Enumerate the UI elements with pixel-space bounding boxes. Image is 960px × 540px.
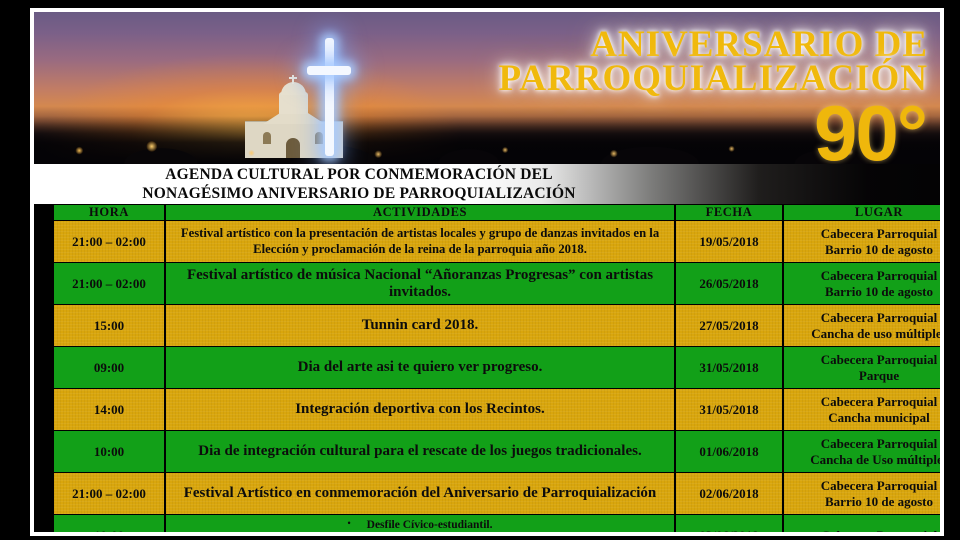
poster-inner: ANIVERSARIO DE PARROQUIALIZACIÓN 90° AGE…: [34, 12, 940, 532]
lugar-line2: Cancha municipal: [787, 410, 940, 425]
cell-hora: 21:00 – 02:00: [54, 221, 164, 262]
cell-actividad: Tunnin card 2018.: [166, 305, 674, 346]
hero-banner: ANIVERSARIO DE PARROQUIALIZACIÓN 90°: [34, 12, 940, 164]
agenda-table-body: 21:00 – 02:00 Festival artístico con la …: [54, 221, 940, 532]
cell-lugar: Cabecera Parroquial Barrio 10 de agosto: [784, 221, 940, 262]
lugar-line2: Barrio 10 de agosto: [787, 242, 940, 257]
steeple-cross-icon: [292, 75, 294, 84]
list-item: Desfile Cívico-estudiantil.: [169, 515, 671, 532]
cell-actividad: Dia de integración cultural para el resc…: [166, 431, 674, 472]
lugar-line1: Cabecera Parroquial: [787, 478, 940, 493]
lugar-line1: Cabecera Parroquial: [787, 352, 940, 367]
cell-hora: 15:00: [54, 305, 164, 346]
cell-actividad: Festival Artístico en conmemoración del …: [166, 473, 674, 514]
column-header-hora: HORA: [54, 205, 164, 220]
lugar-line2: Cancha de uso múltiples: [787, 326, 940, 341]
cell-hora: 14:00: [54, 389, 164, 430]
agenda-table-head: HORA ACTIVIDADES FECHA LUGAR: [54, 205, 940, 220]
cell-lugar: Cabecera Parroquial: [784, 515, 940, 532]
cell-hora: 10:00: [54, 515, 164, 532]
cell-fecha: 01/06/2018: [676, 431, 782, 472]
cell-fecha: 19/05/2018: [676, 221, 782, 262]
cell-hora: 21:00 – 02:00: [54, 473, 164, 514]
lugar-line1: Cabecera Parroquial: [787, 268, 940, 283]
column-header-lugar: LUGAR: [784, 205, 940, 220]
street-lights: [34, 132, 940, 162]
lugar-line2: Barrio 10 de agosto: [787, 494, 940, 509]
table-row: 14:00 Integración deportiva con los Reci…: [54, 389, 940, 430]
church-tower: [279, 92, 308, 114]
table-row: 21:00 – 02:00 Festival artístico con la …: [54, 221, 940, 262]
table-row: 10:00 Dia de integración cultural para e…: [54, 431, 940, 472]
cell-actividad: Desfile Cívico-estudiantil. Sesión Conme…: [166, 515, 674, 532]
table-row: 21:00 – 02:00 Festival artístico de músi…: [54, 263, 940, 304]
poster-root: ANIVERSARIO DE PARROQUIALIZACIÓN 90° AGE…: [0, 0, 960, 540]
cell-fecha: 02/06/2018: [676, 473, 782, 514]
table-header-row: HORA ACTIVIDADES FECHA LUGAR: [54, 205, 940, 220]
cell-hora: 10:00: [54, 431, 164, 472]
cell-lugar: Cabecera Parroquial Cancha municipal: [784, 389, 940, 430]
subtitle-band: AGENDA CULTURAL POR CONMEMORACIÓN DEL NO…: [34, 164, 940, 204]
subtitle-line2: NONAGÉSIMO ANIVERSARIO DE PARROQUIALIZAC…: [94, 185, 624, 204]
subtitle-line1: AGENDA CULTURAL POR CONMEMORACIÓN DEL: [94, 166, 624, 185]
table-row: 15:00 Tunnin card 2018. 27/05/2018 Cabec…: [54, 305, 940, 346]
cell-lugar: Cabecera Parroquial Barrio 10 de agosto: [784, 263, 940, 304]
cell-lugar: Cabecera Parroquial Parque: [784, 347, 940, 388]
cross-horizontal-bar: [307, 66, 351, 75]
agenda-table: HORA ACTIVIDADES FECHA LUGAR 21:00 – 02:…: [52, 204, 940, 532]
cell-actividad: Dia del arte asi te quiero ver progreso.: [166, 347, 674, 388]
lugar-line1: Cabecera Parroquial: [787, 226, 940, 241]
cell-fecha: 31/05/2018: [676, 389, 782, 430]
cell-hora: 21:00 – 02:00: [54, 263, 164, 304]
activity-bullet-list: Desfile Cívico-estudiantil. Sesión Conme…: [169, 515, 671, 532]
table-row: 09:00 Dia del arte asi te quiero ver pro…: [54, 347, 940, 388]
lugar-line1: Cabecera Parroquial: [787, 528, 940, 532]
column-header-fecha: FECHA: [676, 205, 782, 220]
anniversary-number: 90°: [814, 102, 926, 164]
hero-title: ANIVERSARIO DE PARROQUIALIZACIÓN: [498, 28, 928, 97]
lugar-line2: Barrio 10 de agosto: [787, 284, 940, 299]
table-row: 21:00 – 02:00 Festival Artístico en conm…: [54, 473, 940, 514]
cell-hora: 09:00: [54, 347, 164, 388]
cell-actividad: Festival artístico con la presentación d…: [166, 221, 674, 262]
column-header-actividades: ACTIVIDADES: [166, 205, 674, 220]
lugar-line2: Parque: [787, 368, 940, 383]
lugar-line1: Cabecera Parroquial: [787, 394, 940, 409]
lugar-line1: Cabecera Parroquial: [787, 436, 940, 451]
cell-fecha: 27/05/2018: [676, 305, 782, 346]
cell-actividad: Festival artístico de música Nacional “A…: [166, 263, 674, 304]
subtitle-text: AGENDA CULTURAL POR CONMEMORACIÓN DEL NO…: [94, 166, 624, 204]
cell-lugar: Cabecera Parroquial Barrio 10 de agosto: [784, 473, 940, 514]
cell-fecha: 26/05/2018: [676, 263, 782, 304]
lugar-line2: Cancha de Uso múltiples: [787, 452, 940, 467]
cell-fecha: 03/06/2018: [676, 515, 782, 532]
cell-lugar: Cabecera Parroquial Cancha de Uso múltip…: [784, 431, 940, 472]
lugar-line1: Cabecera Parroquial: [787, 310, 940, 325]
cell-actividad: Integración deportiva con los Recintos.: [166, 389, 674, 430]
cell-lugar: Cabecera Parroquial Cancha de uso múltip…: [784, 305, 940, 346]
cell-fecha: 31/05/2018: [676, 347, 782, 388]
table-row: 10:00 Desfile Cívico-estudiantil. Sesión…: [54, 515, 940, 532]
poster-frame: ANIVERSARIO DE PARROQUIALIZACIÓN 90° AGE…: [30, 8, 944, 536]
agenda-table-container: HORA ACTIVIDADES FECHA LUGAR 21:00 – 02:…: [52, 204, 930, 526]
